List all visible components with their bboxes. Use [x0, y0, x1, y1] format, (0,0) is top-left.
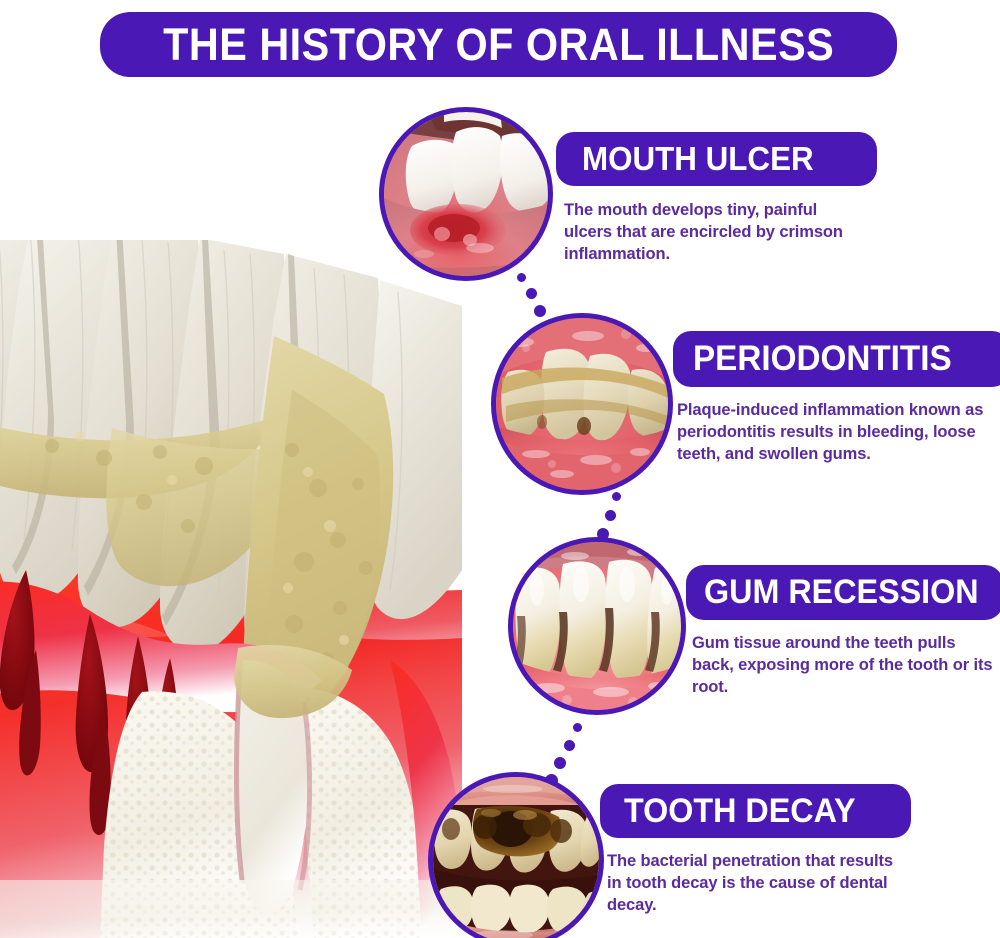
connector-dot	[554, 757, 566, 769]
section-label-periodontitis: PERIODONTITIS	[693, 339, 952, 379]
connector-dot	[573, 723, 582, 732]
photo-gum-recession	[508, 537, 686, 715]
connector-dot	[605, 510, 616, 521]
connector-dot	[526, 288, 537, 299]
section-body-tooth-decay: The bacterial penetration that results i…	[607, 851, 909, 917]
label-banner-tooth-decay: TOOTH DECAY	[600, 784, 911, 838]
label-banner-periodontitis: PERIODONTITIS	[673, 331, 1000, 387]
label-banner-gum-recession: GUM RECESSION	[686, 565, 1000, 620]
section-body-gum-recession: Gum tissue around the teeth pulls back, …	[692, 633, 996, 699]
photo-periodontitis	[491, 313, 673, 495]
connector-dot	[517, 273, 526, 282]
section-label-mouth-ulcer: MOUTH ULCER	[582, 140, 814, 178]
infographic-canvas: THE HISTORY OF ORAL ILLNESS	[0, 0, 1000, 938]
connector-dot	[564, 740, 575, 751]
section-label-gum-recession: GUM RECESSION	[704, 573, 979, 612]
photo-mouth-ulcer	[379, 107, 553, 281]
photo-tooth-decay	[428, 772, 604, 938]
section-body-mouth-ulcer: The mouth develops tiny, painful ulcers …	[564, 200, 864, 266]
section-label-tooth-decay: TOOTH DECAY	[624, 792, 856, 831]
section-body-periodontitis: Plaque-induced inflammation known as per…	[677, 400, 989, 466]
page-title: THE HISTORY OF ORAL ILLNESS	[163, 19, 834, 71]
label-banner-mouth-ulcer: MOUTH ULCER	[556, 132, 877, 186]
connector-dot	[534, 305, 546, 317]
connector-dot	[612, 492, 621, 501]
dental-illustration	[0, 240, 462, 938]
page-title-banner: THE HISTORY OF ORAL ILLNESS	[100, 12, 897, 77]
